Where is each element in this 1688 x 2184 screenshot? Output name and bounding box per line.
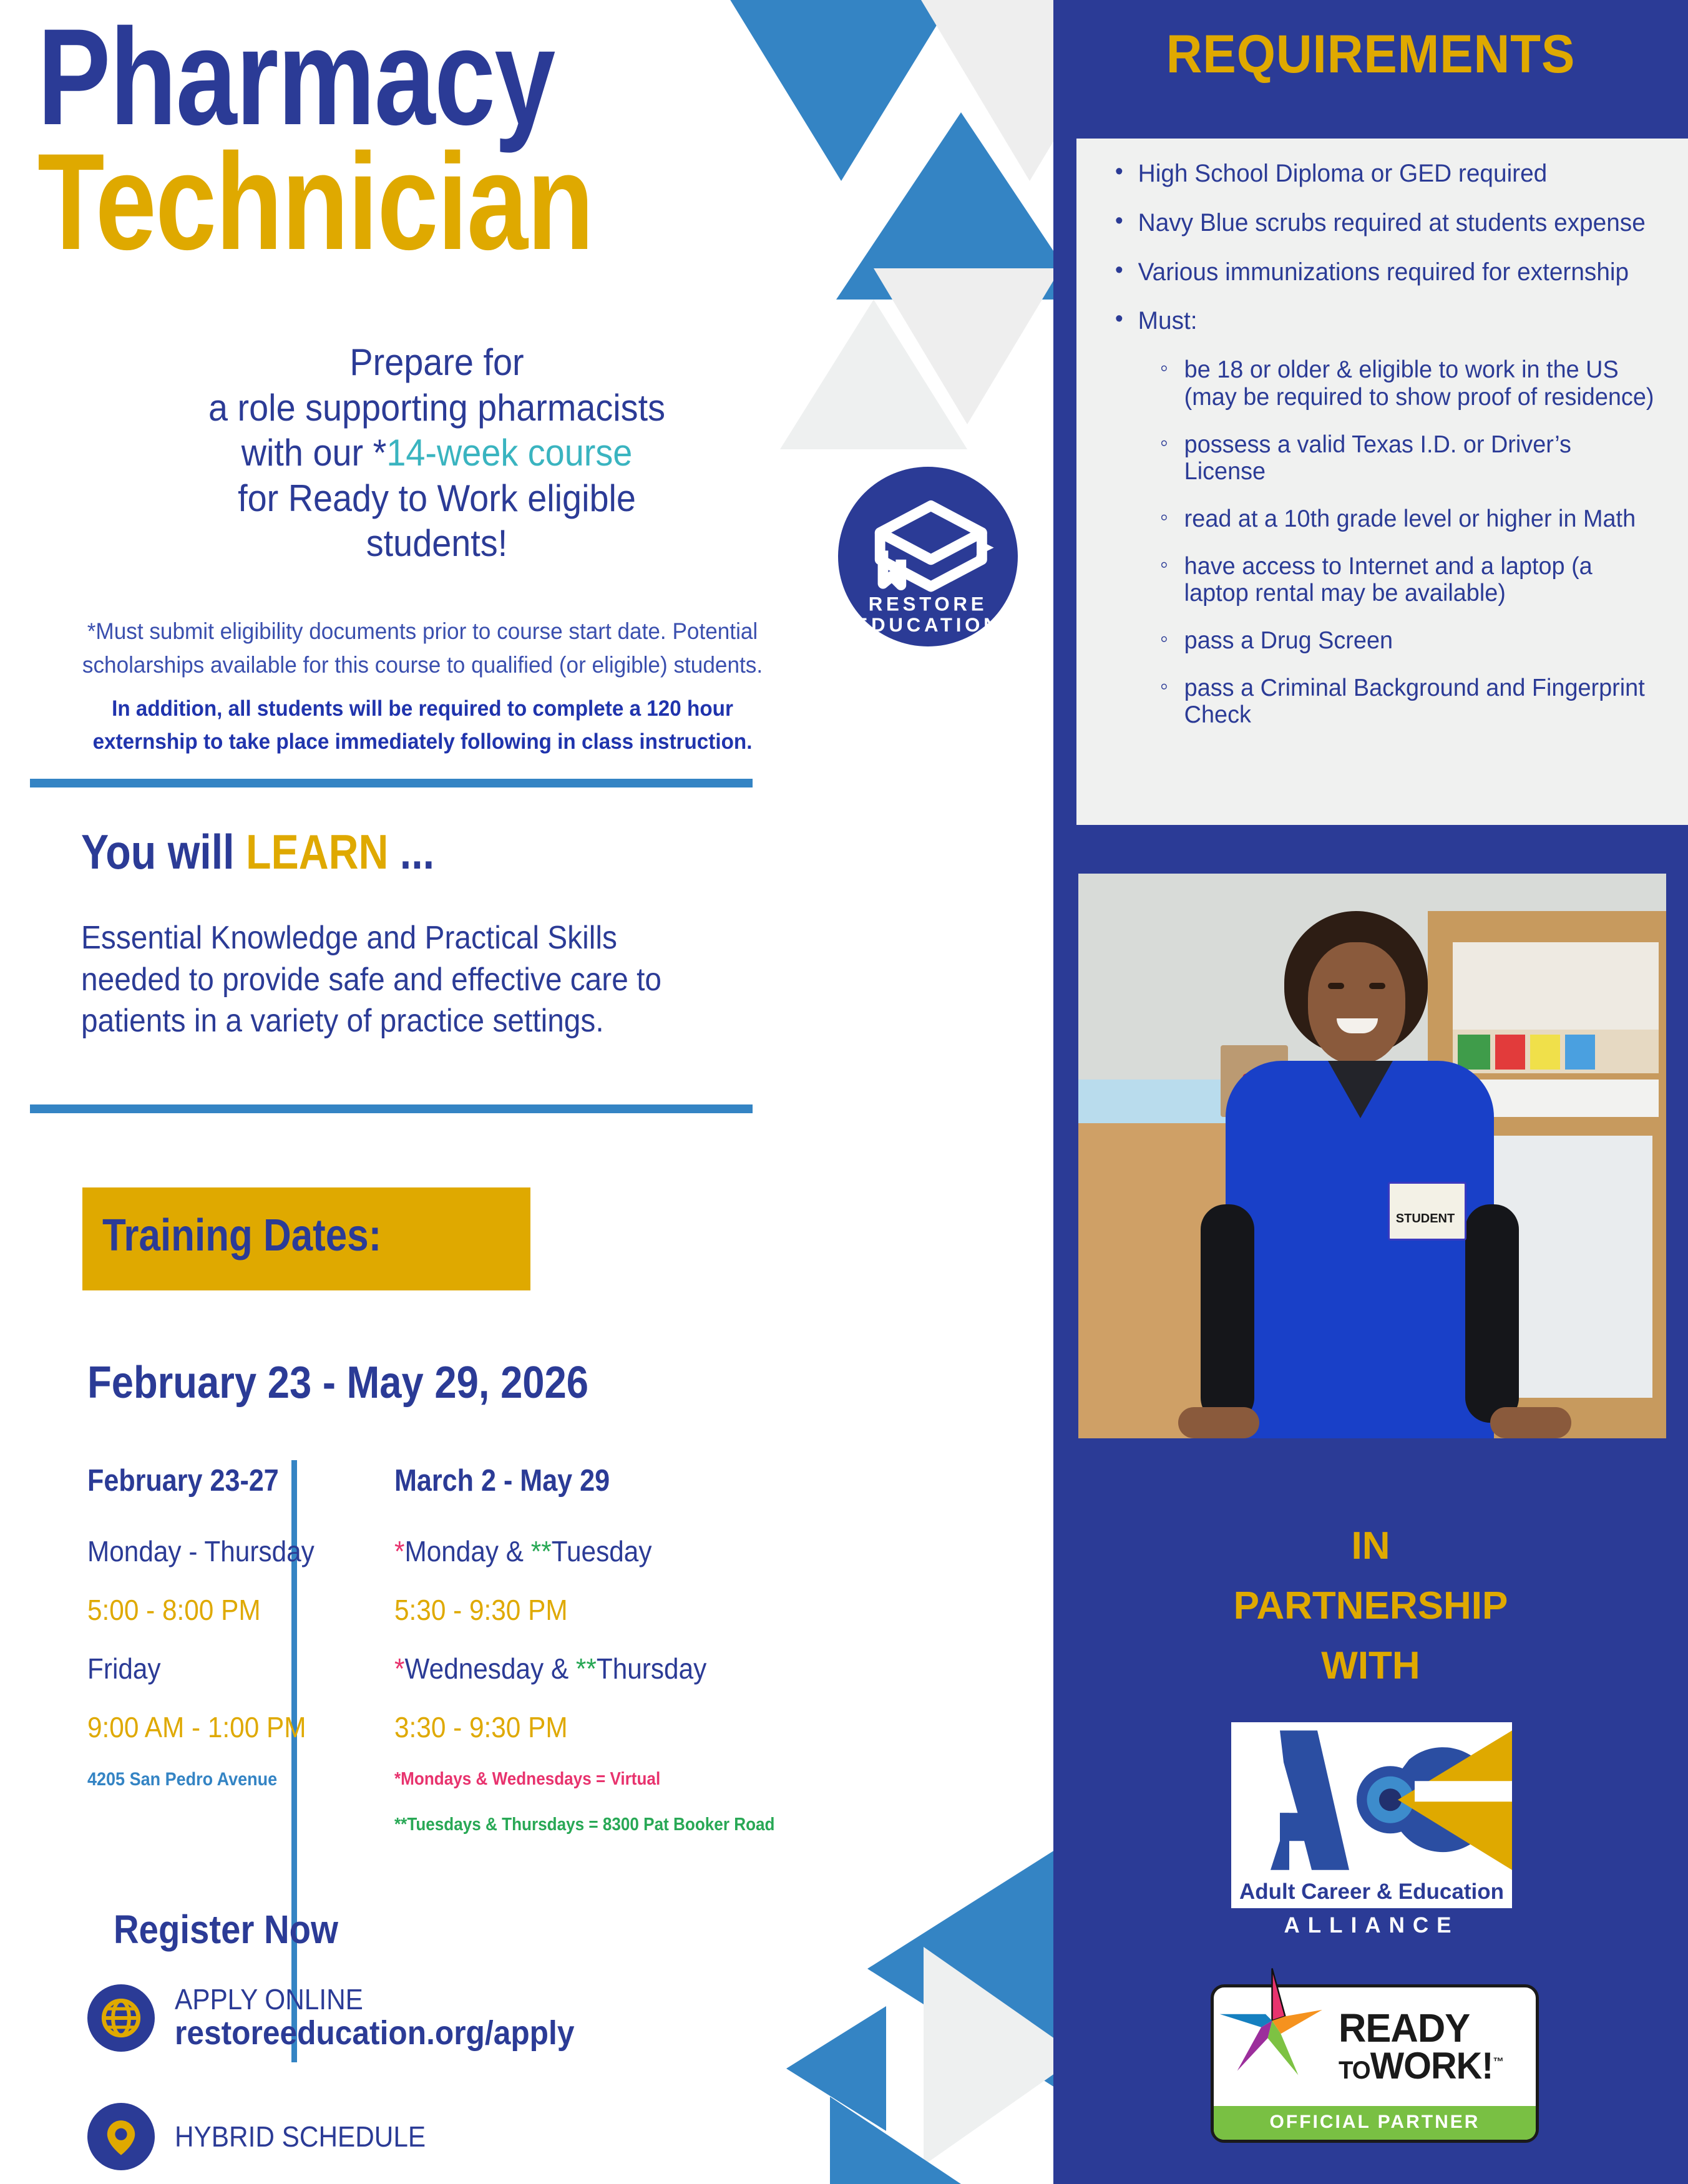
map-pin-icon xyxy=(87,2103,155,2170)
divider-rule-bottom xyxy=(30,1104,753,1113)
photo-eye-right xyxy=(1369,983,1385,989)
schedule-col2-row-2-text: Wednesday & xyxy=(405,1652,576,1685)
rtw-line-1: READY xyxy=(1339,2010,1503,2047)
subtitle-highlight: 14-week course xyxy=(386,432,632,474)
schedule-col1-row-1: 5:00 - 8:00 PM xyxy=(87,1593,330,1627)
schedule-col2-row-3: 3:30 - 9:30 PM xyxy=(394,1710,789,1744)
partnership-line-3: WITH xyxy=(1053,1636,1688,1696)
decor-triangle-right-blue-2 xyxy=(830,2097,1017,2184)
apply-online-url[interactable]: restoreeducation.org/apply xyxy=(175,2014,574,2052)
partnership-heading: IN PARTNERSHIP WITH xyxy=(1053,1516,1688,1696)
learn-body: Essential Knowledge and Practical Skills… xyxy=(81,917,724,1042)
page-title-line2: Technician xyxy=(37,139,593,265)
page-title-line1: Pharmacy xyxy=(37,14,555,140)
schedule-col1-address: 4205 San Pedro Avenue xyxy=(87,1769,324,1790)
ace-logo: Adult Career & Education ALLIANCE xyxy=(1231,1722,1512,1944)
right-panel: REQUIREMENTS High School Diploma or GED … xyxy=(1053,0,1688,2184)
subtitle-line-3: with our *14-week course xyxy=(100,431,774,476)
ready-to-work-card: READY TOWORK!™ OFFICIAL PARTNER xyxy=(1211,1984,1539,2143)
schedule-col2-row-2-text2: Thursday xyxy=(597,1652,706,1685)
partnership-line-2: PARTNERSHIP xyxy=(1053,1576,1688,1636)
hero-subtitle: Prepare for a role supporting pharmacist… xyxy=(100,340,774,567)
photo-student-badge-text: STUDENT xyxy=(1388,1212,1463,1226)
photo-student-badge xyxy=(1388,1182,1466,1241)
schedule-column-1: February 23-27 Monday - Thursday 5:00 - … xyxy=(87,1463,351,1835)
requirements-box: High School Diploma or GED required Navy… xyxy=(1076,139,1688,825)
schedule-note-virtual: *Mondays & Wednesdays = Virtual xyxy=(394,1769,781,1790)
schedule-columns: February 23-27 Monday - Thursday 5:00 - … xyxy=(87,1463,824,1835)
subtitle-line-1: Prepare for xyxy=(100,340,774,386)
learn-heading-tail: ... xyxy=(388,824,434,879)
apply-online-label: APPLY ONLINE xyxy=(175,1984,574,2014)
requirement-item: Navy Blue scrubs required at students ex… xyxy=(1111,209,1655,237)
schedule-col2-row-0-text: Monday & xyxy=(405,1535,531,1567)
double-star-1: ** xyxy=(531,1535,552,1567)
ace-mark-icon xyxy=(1231,1722,1512,1878)
student-photo: CVS pharmacy STUDENT xyxy=(1078,874,1666,1438)
rtw-to: TO xyxy=(1339,2057,1370,2084)
requirement-item: Must: xyxy=(1111,307,1655,335)
schedule-col1-row-0: Monday - Thursday xyxy=(87,1534,330,1568)
requirement-item: Various immunizations required for exter… xyxy=(1111,258,1655,286)
requirement-subitem: have access to Internet and a laptop (a … xyxy=(1158,553,1656,607)
training-dates-badge-label: Training Dates: xyxy=(102,1210,381,1261)
requirement-subitem: pass a Drug Screen xyxy=(1158,627,1656,655)
requirement-subitem: be 18 or older & eligible to work in the… xyxy=(1158,356,1656,411)
subtitle-line-5: students! xyxy=(100,521,774,567)
photo-frames xyxy=(1453,942,1659,1042)
photo-hand-right xyxy=(1490,1407,1571,1438)
photo-scrubs xyxy=(1226,1061,1494,1438)
ready-to-work-partner-bar: OFFICIAL PARTNER xyxy=(1214,2106,1536,2140)
requirement-subitem: possess a valid Texas I.D. or Driver’s L… xyxy=(1158,431,1656,485)
photo-face xyxy=(1308,942,1405,1064)
training-dates-range: February 23 - May 29, 2026 xyxy=(87,1357,588,1408)
photo-product-4 xyxy=(1565,1035,1595,1070)
apply-online-row[interactable]: APPLY ONLINE restoreeducation.org/apply xyxy=(87,1984,609,2052)
ace-logo-mark xyxy=(1231,1722,1512,1878)
schedule-col2-row-2: *Wednesday & **Thursday xyxy=(394,1652,789,1685)
learn-heading-plain: You will xyxy=(81,824,246,879)
rtw-work: WORK! xyxy=(1370,2045,1493,2087)
externship-note: In addition, all students will be requir… xyxy=(58,693,788,758)
schedule-col2-header: March 2 - May 29 xyxy=(394,1463,772,1498)
requirement-subitem: pass a Criminal Background and Fingerpri… xyxy=(1158,675,1656,729)
requirement-subitem: read at a 10th grade level or higher in … xyxy=(1158,505,1656,533)
ace-logo-subtitle: Adult Career & Education xyxy=(1231,1878,1512,1908)
training-dates-badge: Training Dates: xyxy=(82,1187,530,1290)
asterisk-marker: * xyxy=(373,432,387,474)
eligibility-fineprint: *Must submit eligibility documents prior… xyxy=(58,615,788,681)
photo-product-2 xyxy=(1495,1035,1525,1070)
restore-education-logo: RESTORE EDUCATION xyxy=(838,467,1018,646)
subtitle-line-4: for Ready to Work eligible xyxy=(100,476,774,522)
photo-hand-left xyxy=(1178,1407,1259,1438)
subtitle-line-2: a role supporting pharmacists xyxy=(100,386,774,431)
restore-logo-line2: EDUCATION xyxy=(855,614,1002,636)
globe-icon xyxy=(87,1984,155,2052)
ready-to-work-main: READY TOWORK!™ xyxy=(1214,1987,1536,2106)
learn-heading-gold: LEARN xyxy=(246,824,388,879)
divider-rule-top xyxy=(30,779,753,787)
schedule-col2-row-0: *Monday & **Tuesday xyxy=(394,1534,789,1568)
schedule-col2-row-0-text2: Tuesday xyxy=(552,1535,652,1567)
hybrid-schedule-text: HYBRID SCHEDULE xyxy=(175,2122,447,2152)
requirements-list: High School Diploma or GED required Navy… xyxy=(1076,160,1688,729)
ready-to-work-logo: READY TOWORK!™ OFFICIAL PARTNER xyxy=(1211,1984,1533,2143)
register-heading: Register Now xyxy=(114,1906,338,1952)
schedule-col1-header: February 23-27 xyxy=(87,1463,320,1498)
single-star-1: * xyxy=(394,1535,404,1567)
schedule-col1-row-3: 9:00 AM - 1:00 PM xyxy=(87,1710,330,1744)
learn-heading: You will LEARN ... xyxy=(81,824,434,880)
partnership-line-1: IN xyxy=(1053,1516,1688,1576)
schedule-note-location: **Tuesdays & Thursdays = 8300 Pat Booker… xyxy=(394,1815,781,1835)
hybrid-schedule-row[interactable]: HYBRID SCHEDULE xyxy=(87,2103,447,2170)
left-column: Pharmacy Technician Prepare for a role s… xyxy=(0,0,1053,2184)
single-star-2: * xyxy=(394,1652,404,1685)
ace-logo-alliance: ALLIANCE xyxy=(1231,1908,1512,1944)
requirements-title: REQUIREMENTS xyxy=(1076,24,1666,85)
requirement-item: High School Diploma or GED required xyxy=(1111,160,1655,188)
subtitle-line-3-pre: with our xyxy=(241,432,373,474)
restore-logo-line1: RESTORE xyxy=(869,593,988,615)
ready-to-work-wordmark: READY TOWORK!™ xyxy=(1339,2010,1510,2085)
photo-product-3 xyxy=(1530,1035,1560,1070)
decor-triangle-up-gray-1 xyxy=(780,300,967,449)
schedule-col2-row-1: 5:30 - 9:30 PM xyxy=(394,1593,789,1627)
photo-eye-left xyxy=(1328,983,1344,989)
double-star-2: ** xyxy=(576,1652,597,1685)
apply-online-text: APPLY ONLINE restoreeducation.org/apply xyxy=(175,1984,609,2052)
photo-product-1 xyxy=(1458,1035,1490,1070)
rtw-line-2: TOWORK!™ xyxy=(1339,2047,1503,2085)
graduation-cap-book-icon: RESTORE EDUCATION xyxy=(838,467,1018,646)
pinwheel-star-icon xyxy=(1217,1966,1327,2086)
photo-sleeve-left xyxy=(1201,1204,1254,1423)
flyer-page: Pharmacy Technician Prepare for a role s… xyxy=(0,0,1688,2184)
schedule-column-2: March 2 - May 29 *Monday & **Tuesday 5:3… xyxy=(351,1463,824,1835)
rtw-trademark: ™ xyxy=(1493,2055,1503,2068)
photo-sleeve-right xyxy=(1465,1204,1519,1423)
schedule-col1-row-2: Friday xyxy=(87,1652,330,1685)
hybrid-schedule-label: HYBRID SCHEDULE xyxy=(175,2122,426,2152)
